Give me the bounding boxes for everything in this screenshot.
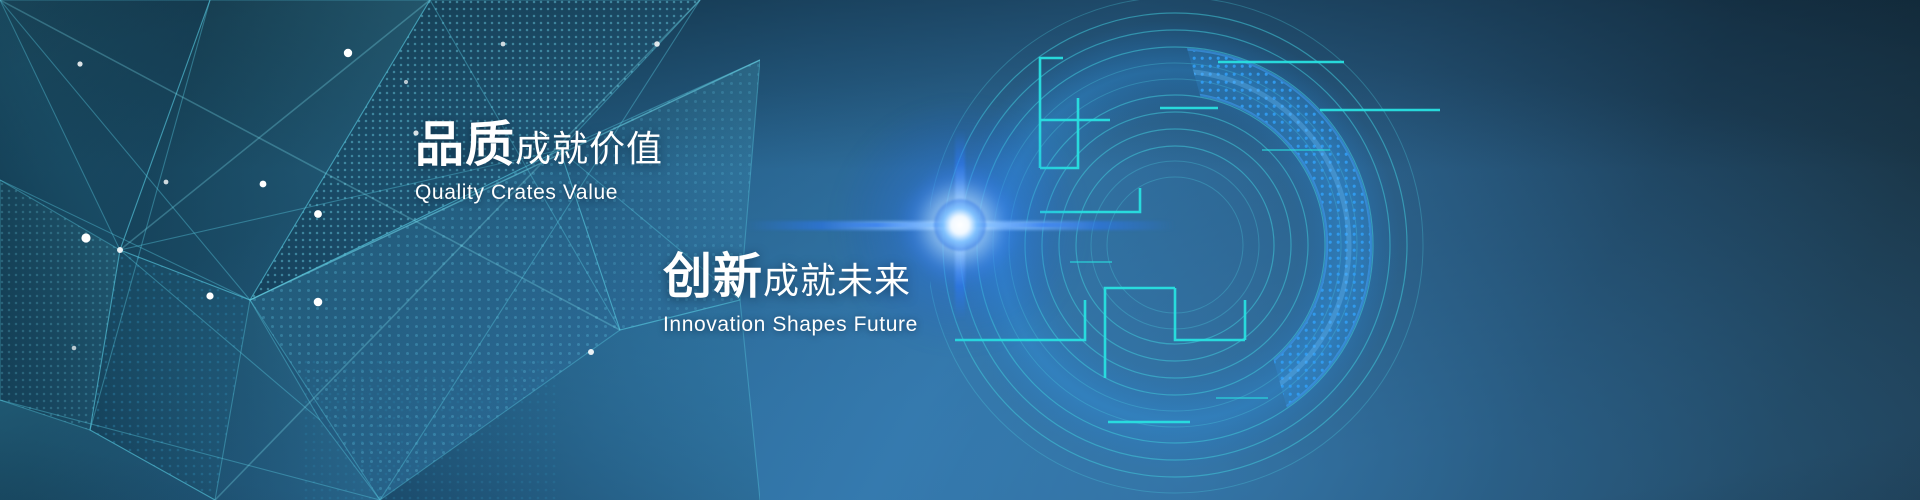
slogan-innovation-cn-light: 成就未来	[763, 260, 911, 301]
slogan-quality-cn-light: 成就价值	[515, 128, 663, 169]
slogan-innovation: 创新成就未来 Innovation Shapes Future	[663, 253, 918, 337]
slogan-innovation-chinese: 创新成就未来	[663, 253, 918, 302]
slogan-innovation-cn-strong: 创新	[663, 250, 763, 304]
hero-banner: 品质成就价值 Quality Crates Value 创新成就未来 Innov…	[0, 0, 1920, 500]
background-vignette	[0, 0, 1920, 500]
slogan-quality: 品质成就价值 Quality Crates Value	[415, 121, 663, 205]
slogan-innovation-english: Innovation Shapes Future	[663, 313, 918, 337]
slogan-quality-english: Quality Crates Value	[415, 181, 663, 205]
slogan-quality-chinese: 品质成就价值	[415, 121, 663, 170]
slogan-quality-cn-strong: 品质	[415, 118, 515, 172]
